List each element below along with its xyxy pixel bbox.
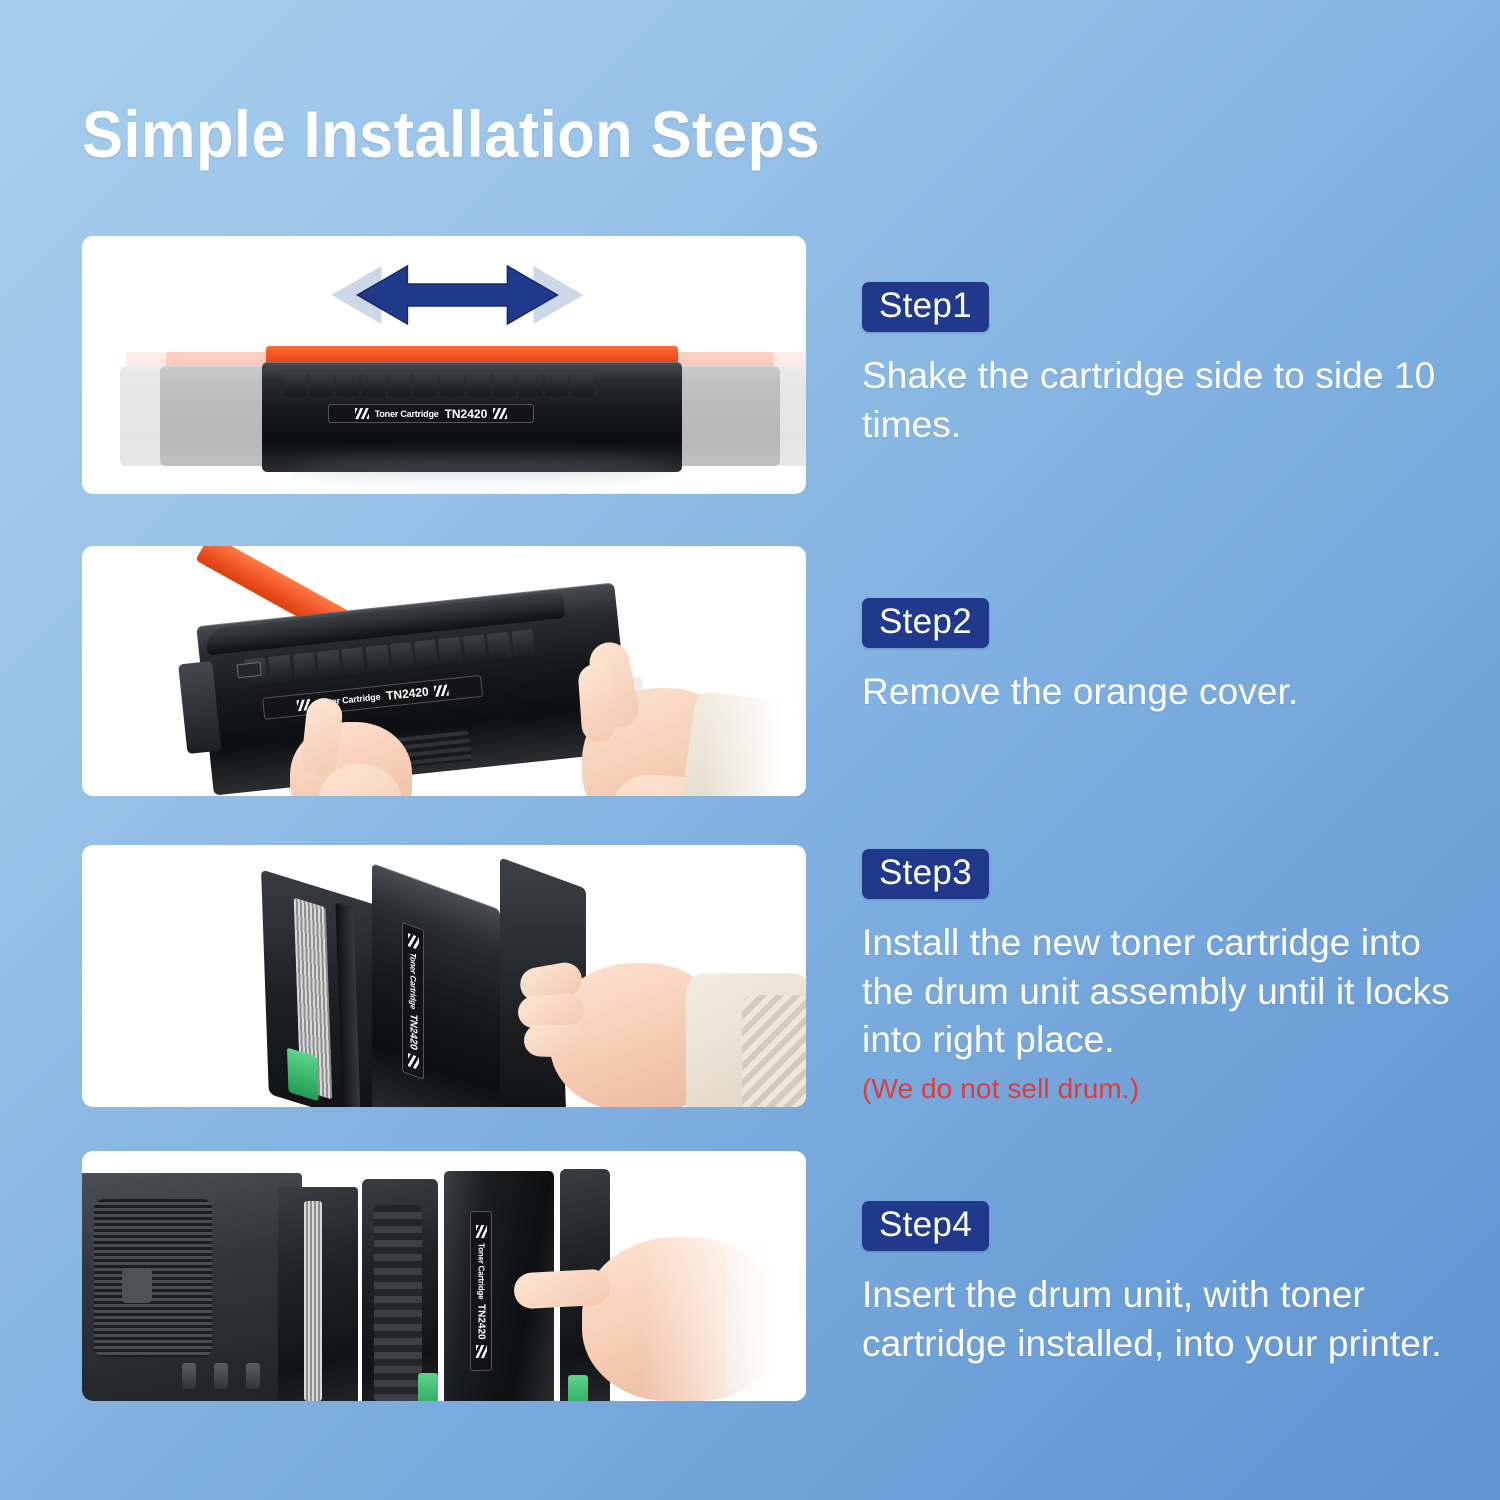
step-text-4: Step4 Insert the drum unit, with toner c… <box>862 1201 1462 1368</box>
step-photo-card-2: Toner Cartridge TN2420 <box>82 546 806 796</box>
step-note-3: (We do not sell drum.) <box>862 1071 1462 1107</box>
label-model: TN2420 <box>408 1012 419 1052</box>
step-image-1: Toner Cartridge TN2420 <box>82 236 806 494</box>
cartridge-label: Toner Cartridge TN2420 <box>470 1211 492 1371</box>
label-model: TN2420 <box>476 1304 487 1340</box>
step-badge-4: Step4 <box>862 1201 989 1251</box>
label-stripes-right <box>434 684 449 696</box>
green-lock-lever <box>287 1047 319 1101</box>
step-description-4: Insert the drum unit, with toner cartrid… <box>862 1271 1462 1369</box>
step-image-2: Toner Cartridge TN2420 <box>82 546 806 796</box>
label-model: TN2420 <box>445 407 488 421</box>
label-model: TN2420 <box>385 685 429 703</box>
step-text-1: Step1 Shake the cartridge side to side 1… <box>862 282 1462 449</box>
page-title: Simple Installation Steps <box>82 96 820 172</box>
label-title: Toner Cartridge <box>375 409 439 419</box>
step-image-3: Toner Cartridge TN2420 <box>82 845 806 1107</box>
step-badge-2: Step2 <box>862 598 989 648</box>
toner-cartridge-main: Toner Cartridge TN2420 <box>262 346 682 472</box>
step-badge-3: Step3 <box>862 849 989 899</box>
printer-vent <box>94 1199 212 1357</box>
step-description-3: Install the new toner cartridge into the… <box>862 919 1462 1065</box>
step-text-3: Step3 Install the new toner cartridge in… <box>862 849 1462 1108</box>
step-row-4: Toner Cartridge TN2420 Step4 Insert the … <box>0 1151 1500 1401</box>
printer-button-2[interactable] <box>214 1363 228 1389</box>
label-stripes-right <box>476 1345 487 1358</box>
step-image-4: Toner Cartridge TN2420 <box>82 1151 806 1401</box>
step-photo-card-1: Toner Cartridge TN2420 <box>82 236 806 494</box>
label-title: Toner Cartridge <box>409 951 418 1011</box>
toner-cartridge-inserting: Toner Cartridge TN2420 <box>372 863 500 1107</box>
label-stripes-left <box>408 932 419 949</box>
step-photo-card-3: Toner Cartridge TN2420 <box>82 845 806 1107</box>
cartridge-label: Toner Cartridge TN2420 <box>402 922 424 1080</box>
green-lock-lever-right <box>568 1375 588 1401</box>
printer-button-1[interactable] <box>182 1363 196 1389</box>
toner-cartridge-held: Toner Cartridge TN2420 <box>196 583 631 796</box>
step-badge-1: Step1 <box>862 282 989 332</box>
step-photo-card-4: Toner Cartridge TN2420 <box>82 1151 806 1401</box>
shake-double-arrow-icon <box>323 258 591 332</box>
step-description-1: Shake the cartridge side to side 10 time… <box>862 352 1462 450</box>
step-row-3: Toner Cartridge TN2420 Step3 Install the… <box>0 845 1500 1107</box>
step-row-2: Toner Cartridge TN2420 <box>0 546 1500 796</box>
label-stripes-right <box>493 408 507 419</box>
green-lock-lever-left <box>418 1373 438 1401</box>
printer-button-3[interactable] <box>246 1363 260 1389</box>
step-description-2: Remove the orange cover. <box>862 668 1462 717</box>
label-stripes-right <box>408 1052 419 1069</box>
cartridge-label: Toner Cartridge TN2420 <box>328 404 534 423</box>
step-text-2: Step2 Remove the orange cover. <box>862 598 1462 717</box>
label-stripes-left <box>355 408 369 419</box>
step-row-1: Toner Cartridge TN2420 Step1 Shake the c… <box>0 236 1500 494</box>
label-title: Toner Cartridge <box>477 1243 486 1299</box>
label-stripes-left <box>476 1225 487 1238</box>
printer-control-buttons[interactable] <box>182 1363 292 1389</box>
